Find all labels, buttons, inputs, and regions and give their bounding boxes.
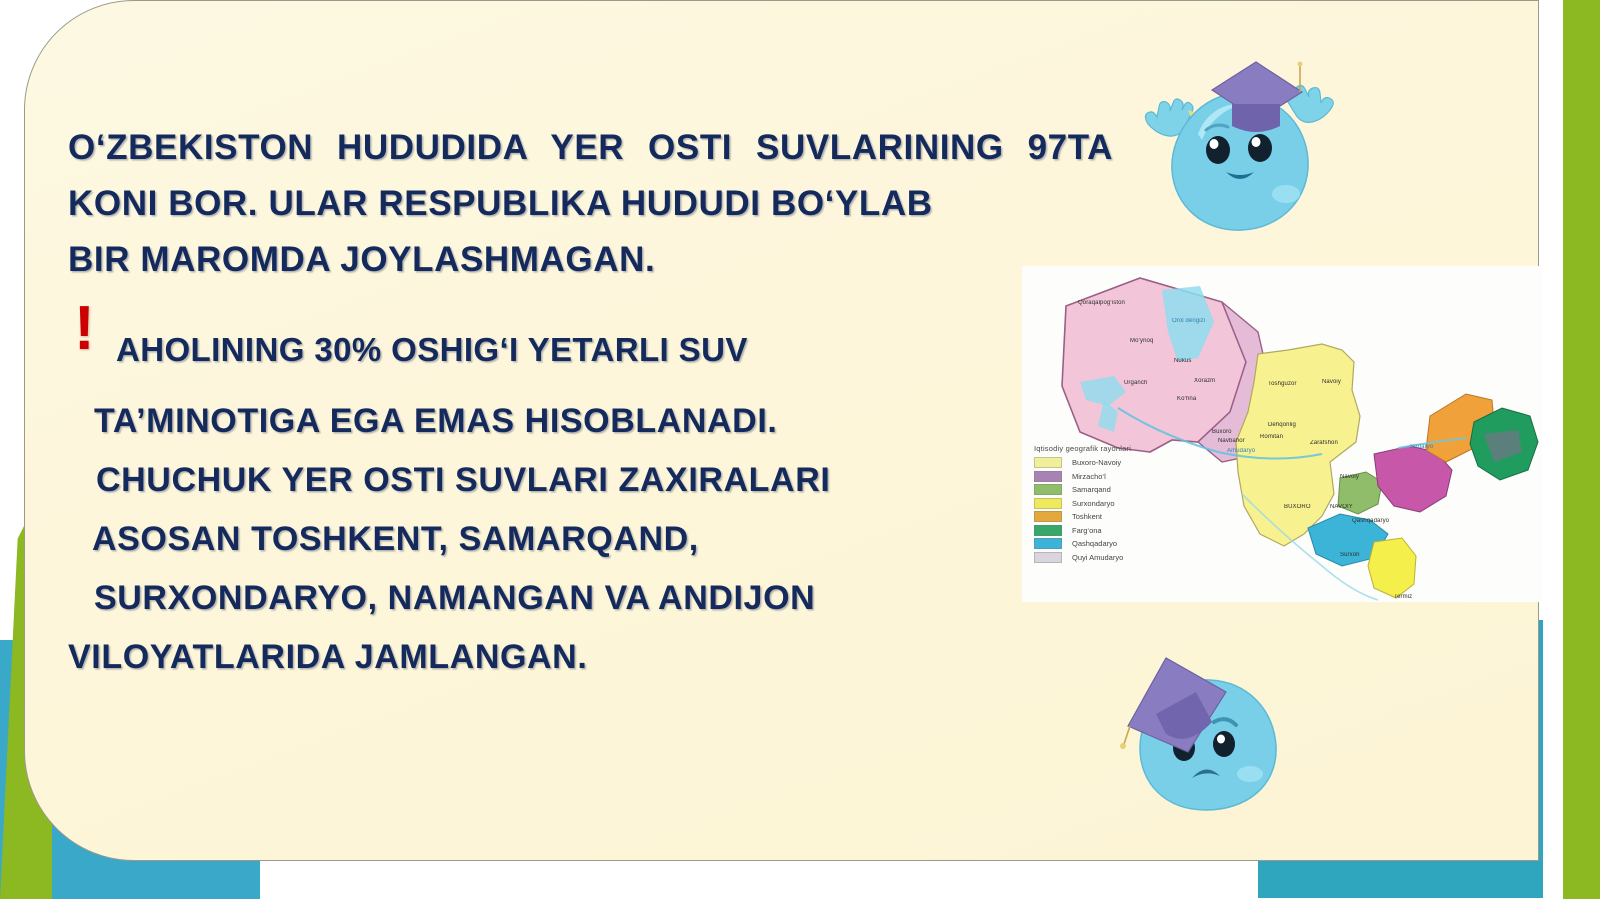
map-label-dehqonlig: Dehqonlig: [1268, 422, 1296, 428]
paragraph-two-line-4: SURXONDARYO, NAMANGAN VA ANDIJON: [68, 569, 998, 628]
map-label-amudaryo: Amudaryo: [1227, 448, 1255, 454]
legend-label-fargona: Farg‘ona: [1072, 526, 1102, 535]
paragraph-two-line-5: VILOYATLARIDA JAMLANGAN.: [68, 628, 998, 687]
callout-text: AHOLINING 30% OSHIG‘I YETARLI SUV: [68, 320, 1068, 380]
legend-label-qashqadaryo: Qashqadaryo: [1072, 539, 1117, 548]
paragraph-two-line-3: ASOSAN TOSHKENT, SAMARQAND,: [68, 510, 998, 569]
water-drop-graduate-happy: [1140, 52, 1340, 267]
map-label-kohna: Ko‘hna: [1177, 396, 1196, 402]
exclamation-icon: !: [74, 298, 95, 360]
legend-swatch-fargona: [1034, 525, 1062, 536]
map-label-navoiy-north: Navoiy: [1322, 379, 1341, 385]
legend-label-quyi-amudaryo: Quyi Amudaryo: [1072, 553, 1123, 562]
legend-swatch-buxoro-navoiy: [1034, 457, 1062, 468]
legend-title: Iqtisodiy geografik rayonlari: [1034, 444, 1214, 453]
legend-item-quyi-amudaryo: Quyi Amudaryo: [1034, 551, 1214, 565]
map-legend: Iqtisodiy geografik rayonlari Buxoro-Nav…: [1034, 444, 1214, 564]
legend-swatch-toshkent: [1034, 511, 1062, 522]
water-drop-happy-svg: [1140, 52, 1340, 267]
green-right-bar: [1563, 0, 1600, 899]
map-label-moynoq: Mo‘ynoq: [1130, 338, 1153, 344]
legend-label-buxoro-navoiy: Buxoro-Navoiy: [1072, 458, 1121, 467]
map-label-urganch: Urganch: [1124, 380, 1147, 386]
legend-item-buxoro-navoiy: Buxoro-Navoiy: [1034, 456, 1214, 470]
legend-label-samarqand: Samarqand: [1072, 485, 1111, 494]
callout-block: ! AHOLINING 30% OSHIG‘I YETARLI SUV: [68, 320, 1068, 380]
legend-item-mirzachol: Mirzacho‘l: [1034, 470, 1214, 484]
paragraph-two: TA’MINOTIGA EGA EMAS HISOBLANADI. CHUCHU…: [68, 392, 998, 687]
map-label-qoraqalpogiston: Qoraqalpog‘iston: [1078, 300, 1125, 306]
uzbekistan-economic-regions-map: Qoraqalpog‘iston Mo‘ynoq Nukus Xorazm Ur…: [1022, 266, 1542, 602]
water-drop-sad-svg: [1118, 618, 1308, 813]
paragraph-one-text: O‘ZBEKISTON HUDUDIDA YER OSTI SUVLARININ…: [68, 128, 1113, 223]
legend-swatch-mirzachol: [1034, 471, 1062, 482]
map-label-toshguzor: Toshguzor: [1268, 381, 1297, 387]
paragraph-one: O‘ZBEKISTON HUDUDIDA YER OSTI SUVLARININ…: [68, 120, 1113, 288]
legend-swatch-quyi-amudaryo: [1034, 552, 1062, 563]
map-label-nukus: Nukus: [1174, 358, 1192, 364]
legend-label-surxondaryo: Surxondaryo: [1072, 499, 1115, 508]
slide-canvas: O‘ZBEKISTON HUDUDIDA YER OSTI SUVLARININ…: [0, 0, 1600, 899]
water-drop-graduate-sad: [1118, 618, 1308, 813]
text-body: O‘ZBEKISTON HUDUDIDA YER OSTI SUVLARININ…: [68, 120, 1068, 687]
legend-swatch-qashqadaryo: [1034, 538, 1062, 549]
map-label-buxoro: Buxoro: [1212, 429, 1232, 435]
paragraph-two-line-2: CHUCHUK YER OSTI SUVLARI ZAXIRALARI: [68, 451, 998, 510]
paragraph-two-line-1: TA’MINOTIGA EGA EMAS HISOBLANADI.: [68, 392, 998, 451]
map-label-buxoro-caps: BUXORO: [1284, 504, 1311, 510]
map-label-romitan: Romitan: [1260, 434, 1283, 440]
map-label-navoiy-city: Navoiy: [1340, 474, 1359, 480]
legend-item-fargona: Farg‘ona: [1034, 524, 1214, 538]
legend-swatch-surxondaryo: [1034, 498, 1062, 509]
paragraph-one-lastline: BIR MAROMDA JOYLASHMAGAN.: [68, 232, 1113, 288]
legend-label-mirzachol: Mirzacho‘l: [1072, 472, 1106, 481]
map-label-navbahor: Navbahor: [1218, 438, 1245, 444]
map-label-termiz: Termiz: [1394, 594, 1412, 600]
legend-item-samarqand: Samarqand: [1034, 483, 1214, 497]
map-label-zarafshon: Zarafshon: [1310, 440, 1338, 446]
legend-item-surxondaryo: Surxondaryo: [1034, 497, 1214, 511]
map-label-xorazm: Xorazm: [1194, 378, 1215, 384]
map-label-sirdaryo: Sirdaryo: [1410, 444, 1433, 450]
map-label-navoiy-caps: NAVOIY: [1330, 504, 1353, 510]
map-label-qashqadaryo: Qashqadaryo: [1352, 518, 1389, 524]
legend-item-qashqadaryo: Qashqadaryo: [1034, 537, 1214, 551]
legend-label-toshkent: Toshkent: [1072, 512, 1102, 521]
map-label-orol-dengizi: Orol dengizi: [1172, 318, 1205, 324]
legend-swatch-samarqand: [1034, 484, 1062, 495]
legend-item-toshkent: Toshkent: [1034, 510, 1214, 524]
map-label-surxon: Surxon: [1340, 552, 1360, 558]
